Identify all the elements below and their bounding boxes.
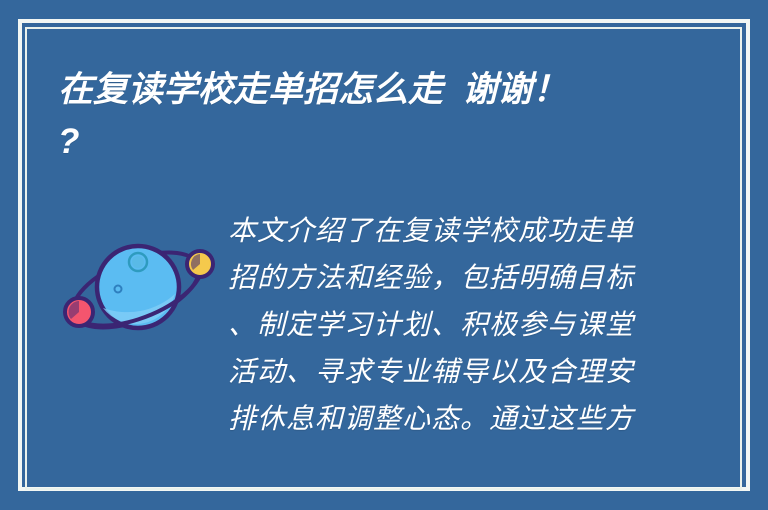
planet-with-orbit-icon [56, 224, 216, 352]
summary-text: 本文介绍了在复读学校成功走单 招的方法和经验，包括明确目标 、制定学习计划、积极… [228, 208, 652, 443]
planet-crater-large-fill [132, 256, 144, 268]
article-cover-canvas: 在复读学校走单招怎么走 谢谢！ ? 本文介绍了在复读学校成功走单 招的方法 [0, 0, 768, 510]
title-line-1: 在复读学校走单招怎么走 谢谢！ [58, 64, 658, 116]
summary-line-5: 排休息和调整心态。通过这些方 [228, 396, 652, 443]
title-line-2: ? [58, 116, 658, 168]
summary-line-1: 本文介绍了在复读学校成功走单 [228, 208, 652, 255]
page-title: 在复读学校走单招怎么走 谢谢！ ? [58, 64, 658, 168]
summary-line-2: 招的方法和经验，包括明确目标 [228, 255, 652, 302]
summary-line-3: 、制定学习计划、积极参与课堂 [228, 302, 652, 349]
summary-line-4: 活动、寻求专业辅导以及合理安 [228, 349, 652, 396]
planet-illustration [56, 224, 216, 352]
